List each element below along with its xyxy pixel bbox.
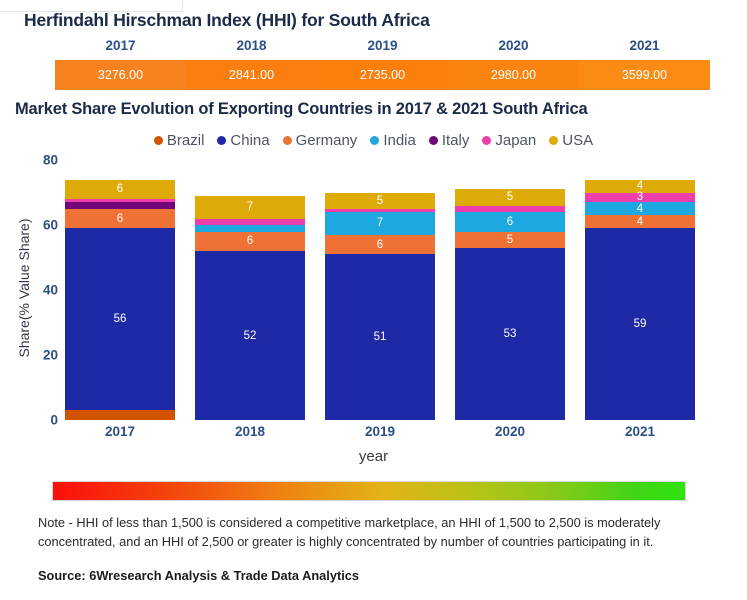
bar-segment-label: 6 (117, 213, 123, 225)
legend-dot-icon (154, 136, 163, 145)
chart-title: Market Share Evolution of Exporting Coun… (15, 100, 588, 119)
bar-column-2017[interactable]: 6656 (65, 180, 175, 421)
legend-label: Brazil (167, 132, 205, 149)
x-tick-label-2017: 2017 (65, 424, 175, 439)
bar-segment-label: 4 (637, 203, 643, 215)
legend-label: Germany (296, 132, 358, 149)
bar-segment-germany[interactable]: 6 (195, 232, 305, 252)
hhi-title: Herfindahl Hirschman Index (HHI) for Sou… (24, 10, 430, 31)
hhi-year-2019: 2019 (317, 38, 448, 58)
bar-segment-label: 5 (507, 234, 513, 246)
bar-segment-label: 53 (504, 328, 517, 340)
bar-segment-usa[interactable]: 5 (455, 189, 565, 205)
legend-label: USA (562, 132, 593, 149)
hhi-value-cell: 2841.00 (186, 60, 317, 90)
bar-segment-label: 6 (247, 235, 253, 247)
hhi-year-header: 20172018201920202021 (55, 38, 710, 58)
y-tick-label: 0 (12, 413, 58, 428)
legend-item-italy[interactable]: Italy (429, 132, 470, 149)
concentration-gradient-bar (52, 481, 686, 501)
hhi-year-2021: 2021 (579, 38, 710, 58)
legend-item-china[interactable]: China (217, 132, 269, 149)
bar-column-2018[interactable]: 7652 (195, 196, 305, 420)
x-tick-label-2020: 2020 (455, 424, 565, 439)
bar-segment-label: 51 (374, 331, 387, 343)
x-axis-title: year (0, 448, 747, 465)
legend-dot-icon (217, 136, 226, 145)
legend-dot-icon (482, 136, 491, 145)
bar-column-2021[interactable]: 434459 (585, 180, 695, 421)
legend-label: Japan (495, 132, 536, 149)
bar-segment-label: 6 (507, 216, 513, 228)
bar-segment-usa[interactable]: 5 (325, 193, 435, 209)
bar-segment-brazil[interactable] (65, 410, 175, 420)
legend-dot-icon (370, 136, 379, 145)
bar-segment-usa[interactable]: 7 (195, 196, 305, 219)
bar-segment-germany[interactable]: 6 (65, 209, 175, 229)
x-tick-label-2019: 2019 (325, 424, 435, 439)
hhi-value-bar: 3276.002841.002735.002980.003599.00 (55, 60, 710, 90)
bar-segment-india[interactable]: 4 (585, 202, 695, 215)
legend-item-brazil[interactable]: Brazil (154, 132, 205, 149)
plot-area: 020406080 Share(% Value Share) 665620177… (0, 160, 747, 445)
bar-column-2019[interactable]: 57651 (325, 193, 435, 421)
bar-segment-china[interactable]: 53 (455, 248, 565, 420)
bar-segment-label: 7 (377, 217, 383, 229)
legend-item-india[interactable]: India (370, 132, 416, 149)
hhi-year-2018: 2018 (186, 38, 317, 58)
bar-segment-japan[interactable]: 3 (585, 193, 695, 203)
bar-segment-china[interactable]: 51 (325, 254, 435, 420)
bar-segment-germany[interactable]: 5 (455, 232, 565, 248)
legend-item-germany[interactable]: Germany (283, 132, 358, 149)
bar-segment-china[interactable]: 59 (585, 228, 695, 420)
y-tick-label: 80 (12, 153, 58, 168)
bar-segment-india[interactable]: 7 (325, 212, 435, 235)
legend-dot-icon (429, 136, 438, 145)
bar-segment-label: 59 (634, 318, 647, 330)
footer-source: Source: 6Wresearch Analysis & Trade Data… (38, 568, 714, 583)
bar-column-2020[interactable]: 56553 (455, 189, 565, 420)
legend-item-japan[interactable]: Japan (482, 132, 536, 149)
legend-item-usa[interactable]: USA (549, 132, 593, 149)
bar-segment-label: 6 (377, 239, 383, 251)
bar-segment-usa[interactable]: 6 (65, 180, 175, 200)
bar-segment-china[interactable]: 56 (65, 228, 175, 410)
hhi-value-cell: 3276.00 (55, 60, 186, 90)
hhi-value-cell: 2735.00 (317, 60, 448, 90)
bar-segment-label: 7 (247, 201, 253, 213)
legend-label: Italy (442, 132, 470, 149)
hhi-value-cell: 2980.00 (448, 60, 579, 90)
bar-segment-label: 6 (117, 183, 123, 195)
hhi-year-2020: 2020 (448, 38, 579, 58)
footer-note: Note - HHI of less than 1,500 is conside… (38, 514, 714, 551)
bar-segment-label: 56 (114, 313, 127, 325)
x-tick-label-2018: 2018 (195, 424, 305, 439)
y-axis-title: Share(% Value Share) (16, 168, 32, 408)
bar-segment-china[interactable]: 52 (195, 251, 305, 420)
legend-label: India (383, 132, 416, 149)
stacked-bars: 6656201776522018576512019565532020434459… (65, 160, 697, 420)
hhi-value-cell: 3599.00 (579, 60, 710, 90)
hhi-year-2017: 2017 (55, 38, 186, 58)
legend-dot-icon (283, 136, 292, 145)
bar-segment-label: 5 (507, 191, 513, 203)
x-tick-label-2021: 2021 (585, 424, 695, 439)
bar-segment-india[interactable]: 6 (455, 212, 565, 232)
bar-segment-label: 52 (244, 330, 257, 342)
bar-segment-label: 4 (637, 180, 643, 192)
bar-segment-label: 5 (377, 195, 383, 207)
chart-legend: BrazilChinaGermanyIndiaItalyJapanUSA (0, 132, 747, 149)
bar-segment-label: 4 (637, 216, 643, 228)
legend-label: China (230, 132, 269, 149)
bar-segment-germany[interactable]: 4 (585, 215, 695, 228)
bar-segment-germany[interactable]: 6 (325, 235, 435, 255)
legend-dot-icon (549, 136, 558, 145)
